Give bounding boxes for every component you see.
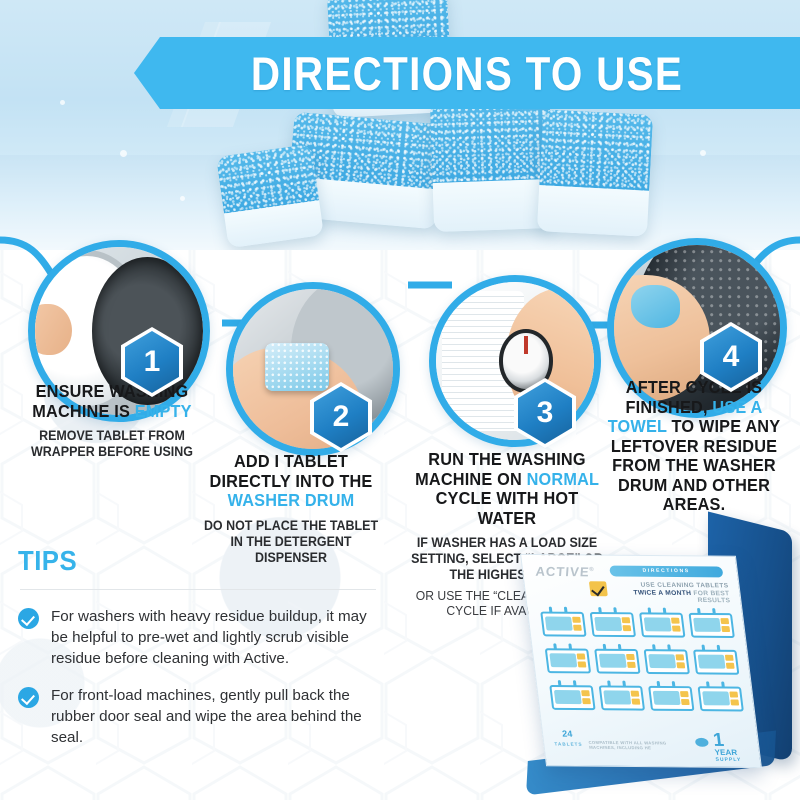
step-3-badge: 3 [514,378,576,448]
towel [631,285,681,328]
calendar-icon [544,643,591,673]
tip-item: For washers with heavy residue buildup, … [18,606,378,669]
infographic-page: DIRECTIONS TO USE 1 ENSURE WASHING MACHI… [0,0,800,800]
calendar-icon [594,644,641,674]
step-2-number: 2 [310,382,372,452]
calendar-icon [697,681,744,711]
step-1-caption: ENSURE WASHING MACHINE IS EMPTY REMOVE T… [10,382,214,460]
step-2-badge: 2 [310,382,372,452]
check-icon [18,608,39,629]
box-usage-line-1: USE CLEANING TABLETS [611,581,729,589]
box-compatibility-text: COMPATIBLE WITH ALL WASHING MACHINES, IN… [588,740,694,751]
calendar-icon [638,607,685,637]
box-tablet-count: 24TABLETS [553,730,583,749]
brand-logo: ACTIVE® [534,564,595,579]
calendar-icon [647,681,694,711]
check-icon [18,687,39,708]
water-droplet [120,150,127,157]
box-front-face: ACTIVE® DIRECTIONS USE CLEANING TABLETS … [520,554,762,768]
tip-item: For front-load machines, gently pull bac… [18,685,378,748]
tips-divider [20,589,376,590]
step-4-caption: AFTER CYCLE IS FINISHED, USE A TOWEL TO … [588,378,800,515]
step-2-title: ADD I TABLET DIRECTLY INTO THE WASHER DR… [198,452,384,511]
page-title: DIRECTIONS TO USE [181,37,754,109]
step-1-number: 1 [121,327,183,397]
tips-section: TIPS For washers with heavy residue buil… [18,546,378,764]
step-3-number: 3 [514,378,576,448]
calendar-icon [589,607,636,637]
box-supply-badge: 1 YEAR SUPPLY [712,733,741,763]
he-seal-icon [695,738,709,747]
tip-text: For front-load machines, gently pull bac… [51,685,378,748]
step-1-sub: REMOVE TABLET FROM WRAPPER BEFORE USING [17,428,207,460]
step-4-number: 4 [700,322,762,392]
tip-text: For washers with heavy residue buildup, … [51,606,378,669]
step-4-title: AFTER CYCLE IS FINISHED, USE A TOWEL TO … [595,378,792,515]
calendar-icon [643,644,690,674]
box-usage-line-2: TWICE A MONTH FOR BEST RESULTS [608,589,731,604]
calendar-icon-grid [540,607,744,712]
box-directions-label: DIRECTIONS [609,566,723,578]
product-box: ACTIVE® DIRECTIONS USE CLEANING TABLETS … [512,500,800,800]
calendar-icon [540,607,587,637]
checkbox-icon [589,581,608,596]
water-droplet [60,100,65,105]
calendar-icon [549,680,596,710]
calendar-icon [598,680,645,710]
water-droplet [700,150,706,156]
hand [28,304,72,354]
step-1-badge: 1 [121,327,183,397]
calendar-icon [692,645,739,675]
tips-heading: TIPS [18,546,349,576]
calendar-icon [688,608,735,638]
step-4-badge: 4 [700,322,762,392]
